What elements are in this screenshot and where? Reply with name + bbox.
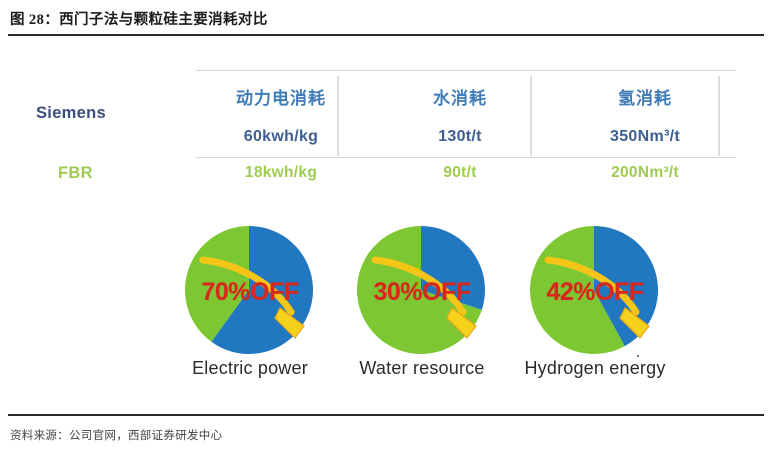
figure-title: 图 28：西门子法与颗粒硅主要消耗对比 [10, 8, 268, 29]
cell-fbr-electric: 18kwh/kg [206, 164, 356, 182]
pie-chart-row: 70%OFF Electric power 30%OFF Water resou… [0, 218, 772, 393]
consumption-table: Siemens FBR 动力电消耗 60kwh/kg 18kwh/kg 水消耗 … [0, 60, 772, 200]
pie-svg-hydrogen [512, 220, 677, 360]
pie-svg-water [339, 220, 504, 360]
row-label-fbr: FBR [58, 164, 93, 183]
cell-siemens-hydrogen: 350Nm³/t [570, 128, 720, 146]
column-header-electric: 动力电消耗 [206, 84, 356, 109]
cell-fbr-hydrogen: 200Nm³/t [570, 164, 720, 182]
table-middle-line [196, 157, 736, 158]
table-top-line [196, 70, 736, 71]
pie-svg-electric [167, 220, 332, 360]
pie-caption-hydrogen: Hydrogen energy [490, 358, 700, 379]
column-header-hydrogen: 氢消耗 [570, 84, 720, 109]
figure-panel: 图 28：西门子法与颗粒硅主要消耗对比 Siemens FBR 动力电消耗 60… [0, 0, 772, 461]
pie-chart-hydrogen-energy: 42%OFF Hydrogen energy [500, 218, 690, 393]
column-header-water: 水消耗 [385, 84, 535, 109]
figure-source: 资料来源：公司官网，西部证券研发中心 [10, 427, 222, 443]
pie-chart-water-resource: 30%OFF Water resource [327, 218, 517, 393]
row-label-siemens: Siemens [36, 104, 106, 123]
cell-siemens-water: 130t/t [385, 128, 535, 146]
image-speck [637, 355, 639, 357]
cell-siemens-electric: 60kwh/kg [206, 128, 356, 146]
cell-fbr-water: 90t/t [385, 164, 535, 182]
title-divider [8, 34, 764, 36]
source-divider [8, 414, 764, 416]
